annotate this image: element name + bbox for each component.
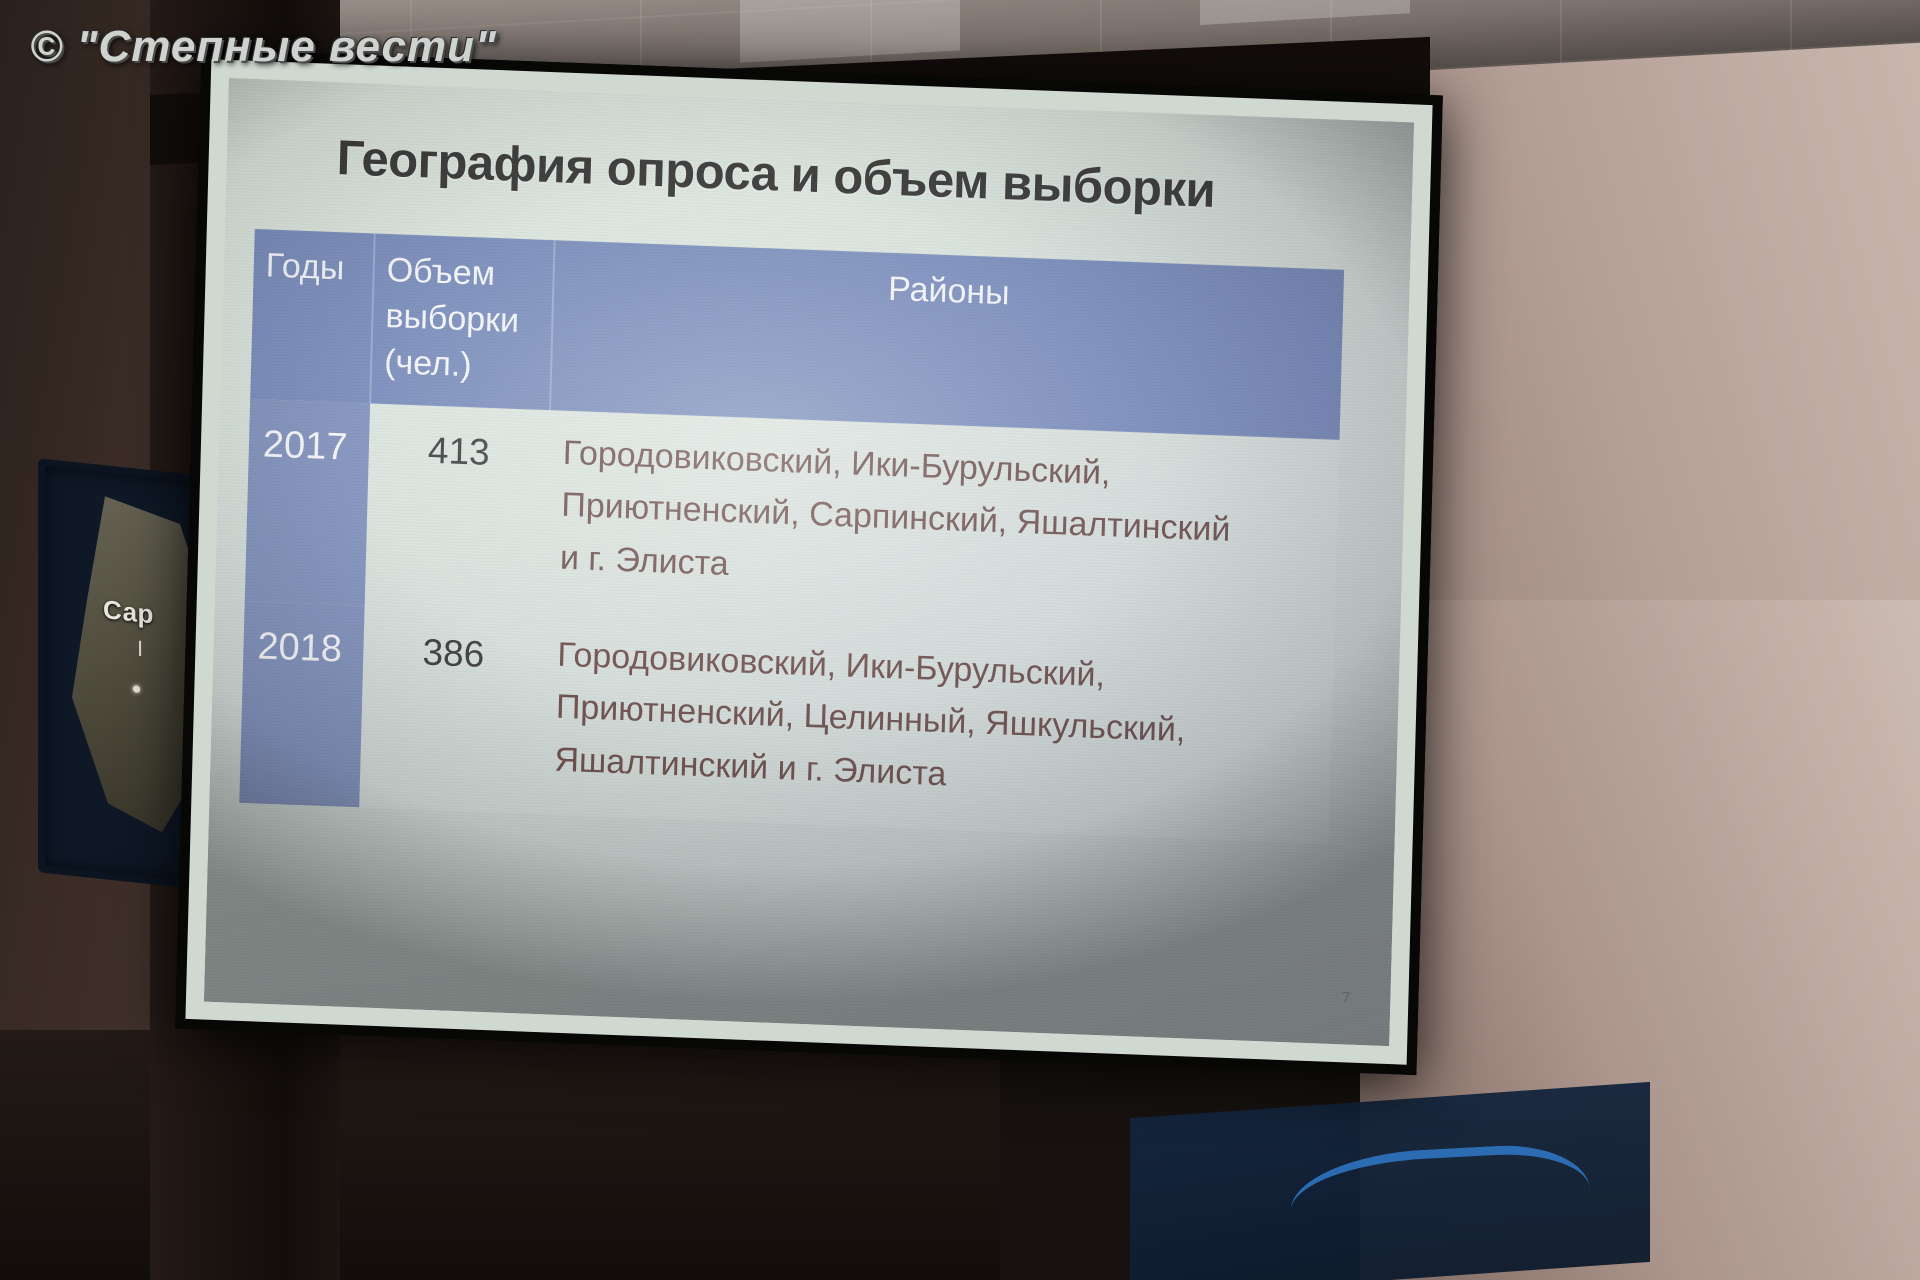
cell-year: 2018 xyxy=(239,601,364,807)
cell-districts: Городовиковский, Ики-Бурульский, Приютне… xyxy=(545,410,1340,642)
watermark-text: © "Степные вести" xyxy=(30,22,497,72)
cell-sample-size: 413 xyxy=(365,403,550,612)
map-label: Сар xyxy=(103,594,154,630)
cell-year: 2017 xyxy=(245,399,370,605)
projection-screen-frame: География опроса и объем выборки Годы Об… xyxy=(175,49,1443,1075)
photo-scene: Сар I География опроса и объем выборки Г… xyxy=(0,0,1920,1280)
column-header-districts: Районы xyxy=(550,240,1344,439)
presentation-slide: География опроса и объем выборки Годы Об… xyxy=(204,78,1414,1046)
projection-screen: География опроса и объем выборки Годы Об… xyxy=(185,59,1432,1064)
map-sub-label: I xyxy=(137,636,143,663)
cell-districts: Городовиковский, Ики-Бурульский, Приютне… xyxy=(539,612,1334,844)
slide-page-number: 7 xyxy=(1342,989,1351,1006)
table-row: 2018 386 Городовиковский, Ики-Бурульский… xyxy=(239,601,1334,844)
table-row: 2017 413 Городовиковский, Ики-Бурульский… xyxy=(245,399,1340,642)
slide-title: География опроса и объем выборки xyxy=(336,130,1337,223)
column-header-sample-size: Объем выборки (чел.) xyxy=(370,233,554,409)
column-header-years: Годы xyxy=(250,229,375,403)
survey-geography-table: Годы Объем выборки (чел.) Районы 2017 41… xyxy=(239,229,1344,843)
cell-sample-size: 386 xyxy=(359,605,544,814)
map-city-dot xyxy=(133,685,140,693)
